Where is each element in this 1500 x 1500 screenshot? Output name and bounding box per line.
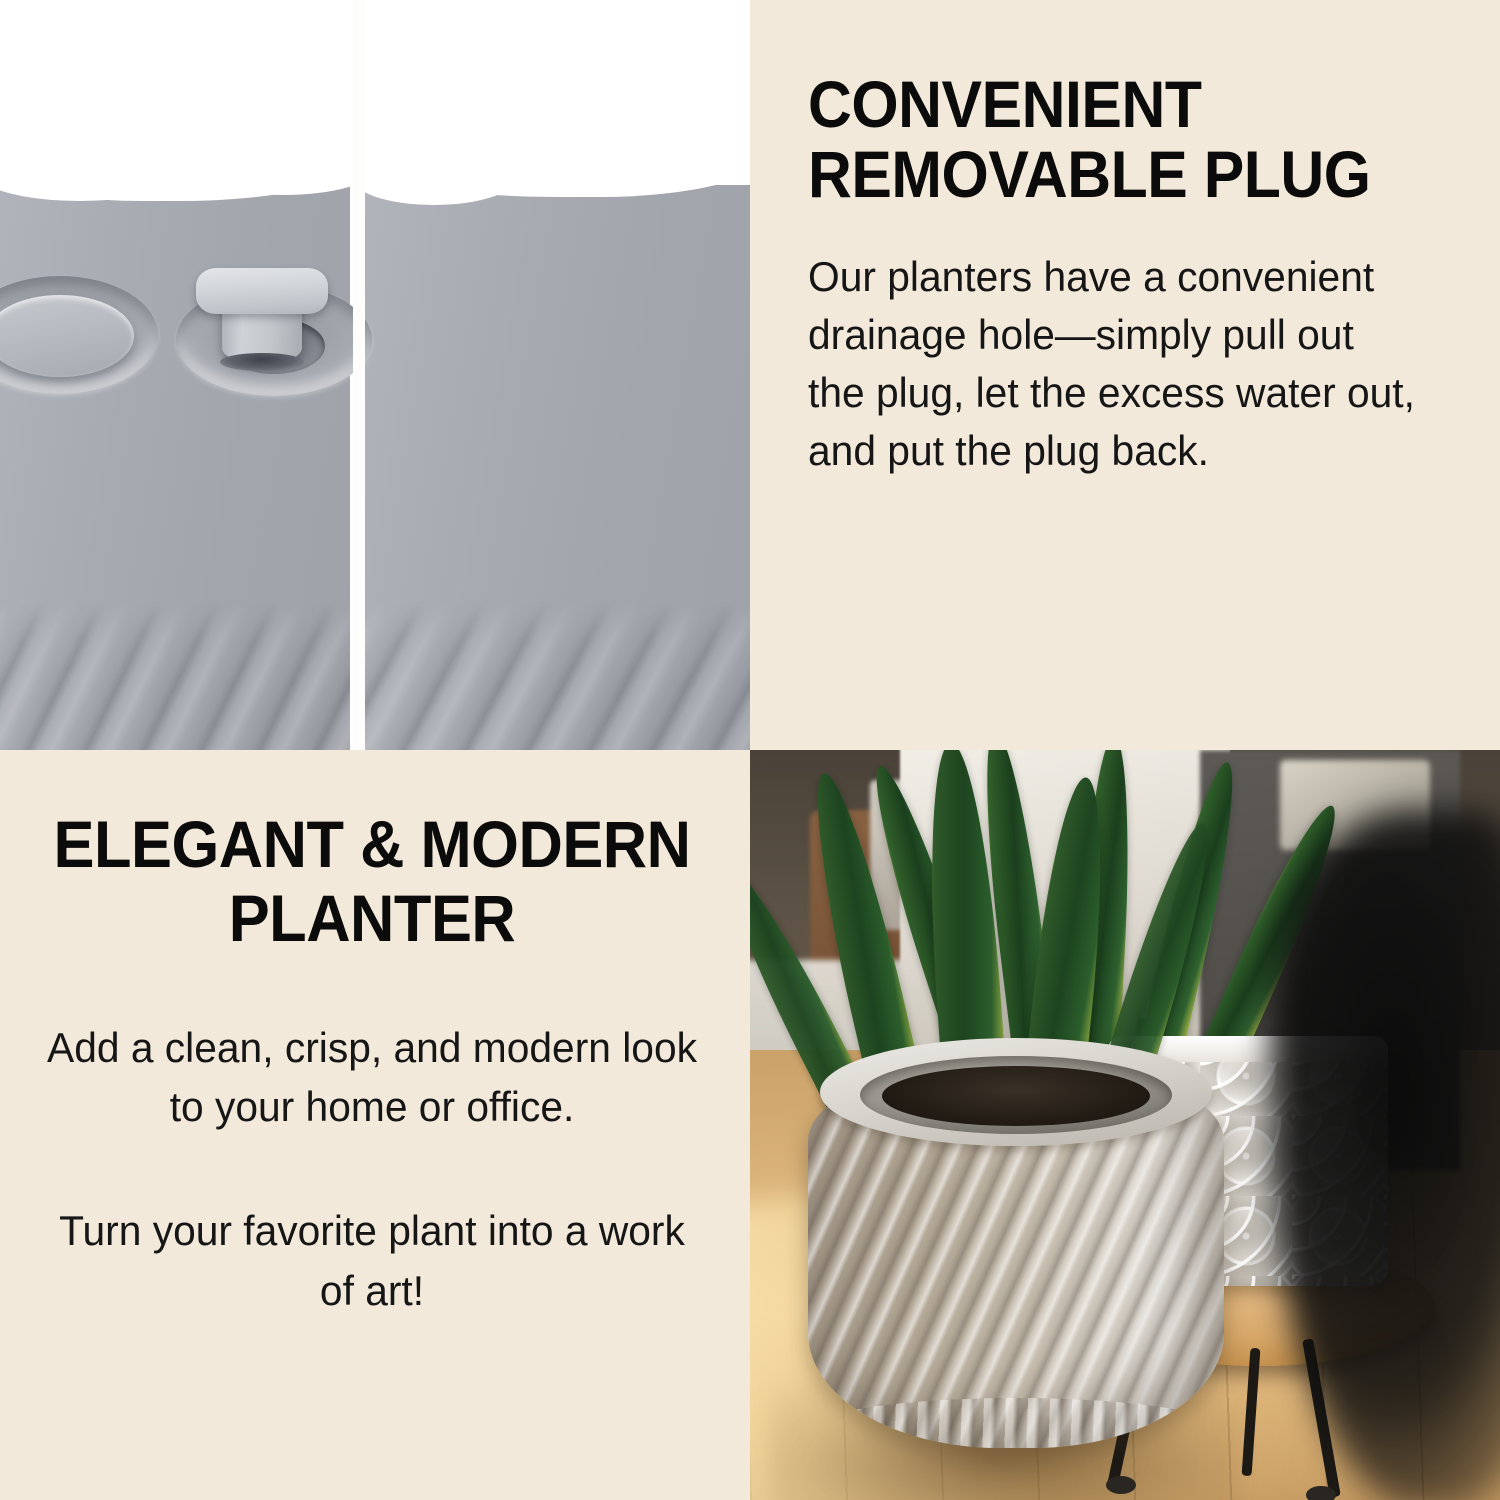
elegant-modern-body-first: Add a clean, crisp, and modern look to y…	[42, 1018, 702, 1137]
plug-photo-stage	[0, 0, 750, 750]
elegant-modern-copy-block: ELEGANT & MODERN PLANTER Add a clean, cr…	[0, 750, 750, 1500]
hairpin-leg-foot	[1106, 1476, 1136, 1494]
panel-crest	[0, 185, 185, 201]
photo-panel-divider	[353, 0, 365, 750]
potting-soil	[882, 1066, 1150, 1126]
infographic-page: CONVENIENT REMOVABLE PLUG Our planters h…	[0, 0, 1500, 1500]
plug-cap	[196, 268, 328, 314]
diagonal-rib-texture	[0, 600, 350, 750]
removable-plug-copy-block: CONVENIENT REMOVABLE PLUG Our planters h…	[750, 0, 1500, 750]
diagonal-rib-texture	[363, 600, 750, 750]
removable-plug	[196, 268, 328, 372]
room-scene	[750, 750, 1500, 1500]
elegant-modern-heading: ELEGANT & MODERN PLANTER	[47, 808, 698, 956]
removable-plug-heading: CONVENIENT REMOVABLE PLUG	[808, 70, 1389, 210]
elegant-modern-body-second: Turn your favorite plant into a work of …	[42, 1201, 702, 1320]
panel-crest-secondary	[555, 185, 750, 187]
hairpin-leg-foot	[1306, 1486, 1336, 1500]
lifestyle-photo	[750, 750, 1500, 1500]
removable-plug-body: Our planters have a convenient drainage …	[808, 248, 1421, 480]
plug-seated-dome	[0, 295, 134, 378]
panel-crest	[363, 185, 519, 205]
plug-detail-photo	[0, 0, 750, 750]
planter-panel-plug-removed	[363, 185, 750, 750]
spiral-ribbed-planter	[808, 1038, 1224, 1448]
panel-crest-secondary	[209, 185, 350, 195]
